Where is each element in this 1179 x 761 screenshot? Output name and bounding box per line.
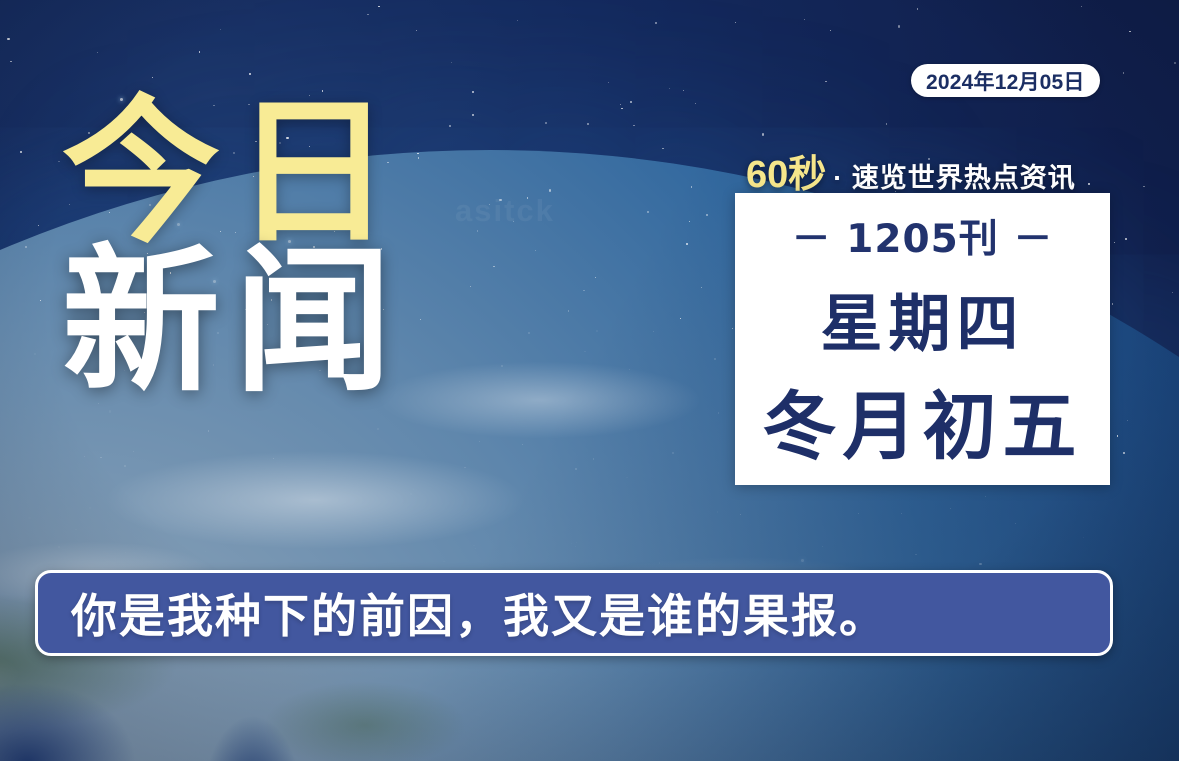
poster-headline: 今日 新闻 [62, 96, 682, 400]
date-info-card: － 1205刊 － 星期四 冬月初五 [735, 193, 1110, 485]
lunar-date-label: 冬月初五 [763, 367, 1083, 474]
headline-line-1: 今日 [62, 96, 682, 251]
tagline: 60秒 · 速览世界热点资讯 [746, 143, 1076, 198]
tagline-highlight: 60秒 [746, 143, 826, 198]
date-badge: 2024年12月05日 [911, 64, 1100, 97]
issue-number: － 1205刊 － [792, 208, 1054, 264]
quote-text: 你是我种下的前因，我又是谁的果报。 [71, 580, 887, 646]
tagline-rest: · 速览世界热点资讯 [833, 156, 1076, 195]
poster-canvas: asitck 今日 新闻 2024年12月05日 60秒 · 速览世界热点资讯 … [0, 0, 1179, 761]
quote-banner: 你是我种下的前因，我又是谁的果报。 [35, 570, 1113, 656]
headline-line-2: 新闻 [62, 245, 682, 400]
weekday-label: 星期四 [820, 273, 1024, 363]
